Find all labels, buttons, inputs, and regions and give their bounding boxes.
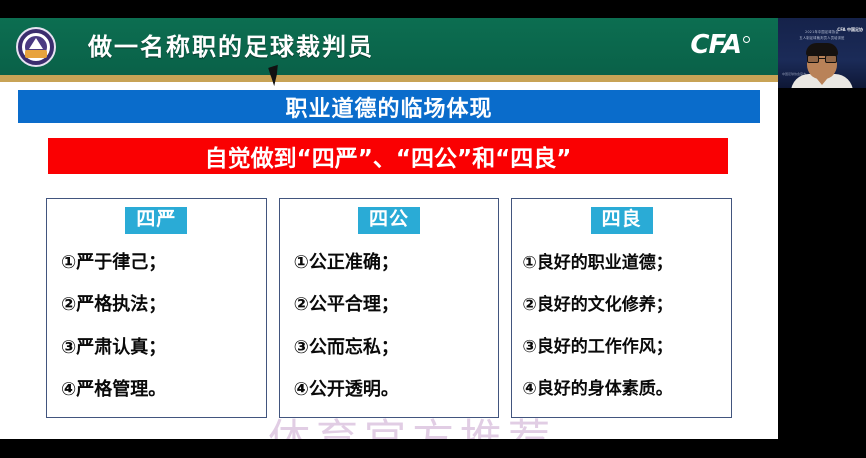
list-item: ②公平合理； <box>284 295 495 315</box>
red-banner-text: 自觉做到“四严”、“四公”和“四良” <box>205 139 572 173</box>
blue-banner-text: 职业道德的临场体现 <box>285 91 492 123</box>
list-item: ④公开透明。 <box>284 380 495 400</box>
blue-banner: 职业道德的临场体现 <box>18 90 760 123</box>
speaker-video[interactable]: 2021年中国足球协会 五人制足球裁判员人员培训班 CFA 中国足协 中国足球协… <box>778 18 866 88</box>
list-item: ③严肃认真； <box>51 338 262 358</box>
cfa-logo: CFA <box>690 30 750 60</box>
presentation-slide: 做一名称职的足球裁判员 CFA 职业道德的临场体现 自觉做到“四严”、“四公”和… <box>0 18 778 439</box>
list-item: ②严格执法； <box>51 295 262 315</box>
glasses-left-lens <box>807 55 819 63</box>
column-si-yan: 四严 ①严于律己； ②严格执法； ③严肃认真； ④严格管理。 <box>46 198 267 418</box>
list-item: ③公而忘私； <box>284 338 495 358</box>
glasses-right-lens <box>825 55 837 63</box>
column-heading: 四严 <box>125 207 187 234</box>
speaker-glasses-icon <box>807 55 837 63</box>
page-title: 做一名称职的足球裁判员 <box>88 27 374 62</box>
column-si-gong: 四公 ①公正准确； ②公平合理； ③公而忘私； ④公开透明。 <box>279 198 500 418</box>
header-gold-divider <box>0 75 778 82</box>
column-si-liang: 四良 ①良好的职业道德； ②良好的文化修养； ③良好的工作作风； ④良好的身体素… <box>511 198 732 418</box>
content-columns: 四严 ①严于律己； ②严格执法； ③严肃认真； ④严格管理。 四公 ①公正准确；… <box>46 198 732 418</box>
cfa-logo-ball-icon <box>743 36 750 43</box>
column-list: ①公正准确； ②公平合理； ③公而忘私； ④公开透明。 <box>284 242 495 411</box>
slide-header-bar: 做一名称职的足球裁判员 CFA <box>0 18 778 75</box>
video-backdrop-line2: 五人制足球裁判员人员培训班 <box>799 35 844 40</box>
list-item: ④严格管理。 <box>51 380 262 400</box>
list-item: ①公正准确； <box>284 253 495 273</box>
list-item: ②良好的文化修养； <box>516 296 727 315</box>
list-item: ④良好的身体素质。 <box>516 380 727 399</box>
emblem-base-shape <box>25 50 47 58</box>
column-heading: 四良 <box>591 207 653 234</box>
column-list: ①良好的职业道德； ②良好的文化修养； ③良好的工作作风； ④良好的身体素质。 <box>516 242 727 411</box>
screenshot-root: 做一名称职的足球裁判员 CFA 职业道德的临场体现 自觉做到“四严”、“四公”和… <box>0 0 866 458</box>
red-banner: 自觉做到“四严”、“四公”和“四良” <box>48 138 728 174</box>
video-backdrop-line1: 2021年中国足球协会 <box>805 29 839 34</box>
cfa-logo-text: CFA <box>690 30 741 60</box>
emblem-torch-shape <box>29 38 43 49</box>
list-item: ③良好的工作作风； <box>516 338 727 357</box>
column-list: ①严于律己； ②严格执法； ③严肃认真； ④严格管理。 <box>51 242 262 411</box>
video-corner-logo: CFA 中国足协 <box>837 27 863 33</box>
list-item: ①严于律己； <box>51 253 262 273</box>
column-heading: 四公 <box>358 207 420 234</box>
list-item: ①良好的职业道德； <box>516 254 727 273</box>
federation-emblem-icon <box>16 27 56 67</box>
